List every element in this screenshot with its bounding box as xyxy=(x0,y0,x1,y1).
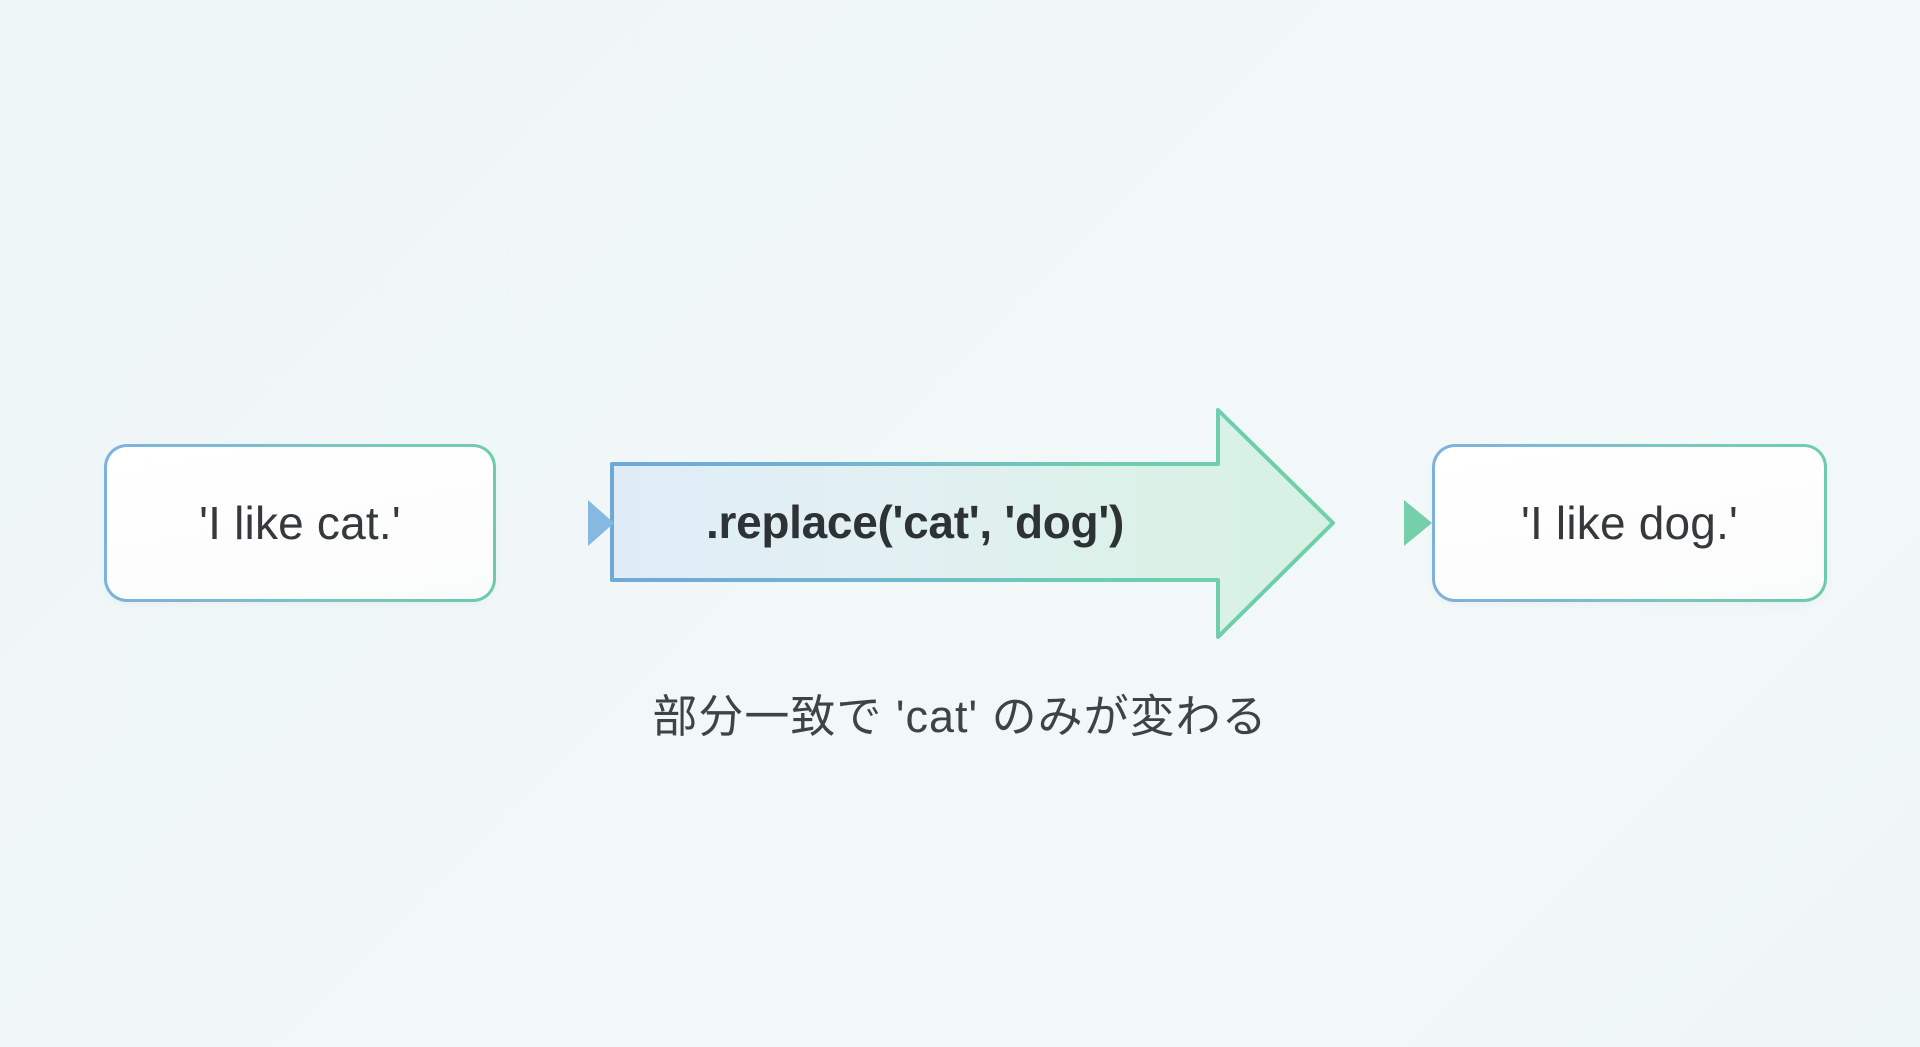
input-string-label: 'I like cat.' xyxy=(199,496,401,550)
operation-code-label: .replace('cat', 'dog') xyxy=(610,463,1220,581)
operation-code-text: .replace('cat', 'dog') xyxy=(706,495,1124,549)
output-string-box: 'I like dog.' xyxy=(1435,447,1824,599)
input-string-box: 'I like cat.' xyxy=(107,447,493,599)
connector-input-to-operation-icon xyxy=(497,500,614,546)
diagram-caption-text: 部分一致で 'cat' のみが変わる xyxy=(652,691,1267,742)
diagram-canvas: 'I like cat.' .replace('cat', 'dog') 'I … xyxy=(0,0,1920,1047)
output-string-label: 'I like dog.' xyxy=(1521,496,1738,550)
diagram-caption: 部分一致で 'cat' のみが変わる xyxy=(0,680,1920,745)
connector-operation-to-output-icon xyxy=(1331,500,1432,546)
